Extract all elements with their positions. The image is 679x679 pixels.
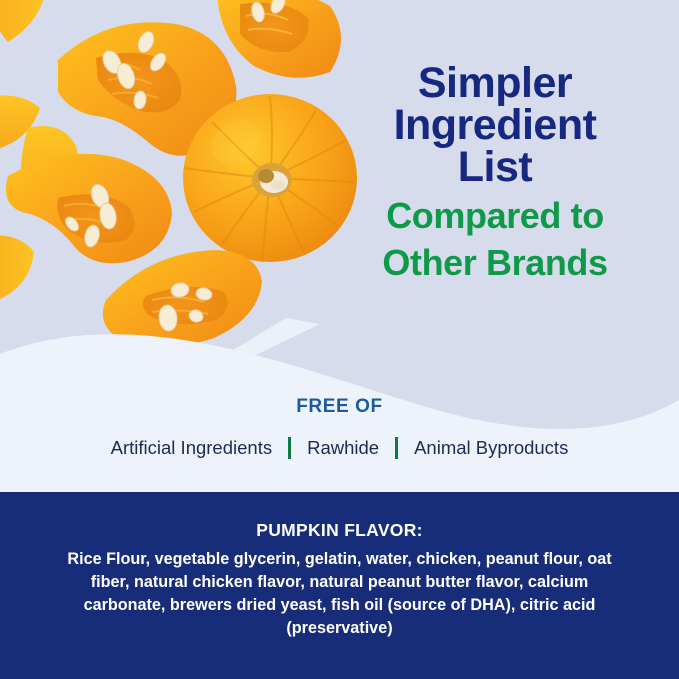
pumpkin-stem [252,163,292,197]
free-of-item-artificial-ingredients: Artificial Ingredients [95,437,288,459]
subheadline-line-1: Compared to [345,198,645,235]
ingredient-panel: PUMPKIN FLAVOR: Rice Flour, vegetable gl… [0,492,679,679]
free-of-item-animal-byproducts: Animal Byproducts [398,437,584,459]
whole-pumpkin [183,94,357,262]
free-of-item-rawhide: Rawhide [291,437,395,459]
headline-line-1: Simpler [345,62,645,104]
headline-line-2: Ingredient [345,104,645,146]
pumpkin-piece-bottom-left [0,235,34,300]
free-of-title: FREE OF [0,396,679,418]
pumpkin-piece-topleft [0,0,46,42]
free-of-section: FREE OF Artificial Ingredients Rawhide A… [0,396,679,459]
hero-section: Simpler Ingredient List Compared to Othe… [0,0,679,492]
infographic-page: Simpler Ingredient List Compared to Othe… [0,0,679,679]
headline-line-3: List [345,146,645,188]
free-of-items-row: Artificial Ingredients Rawhide Animal By… [0,437,679,459]
ingredient-panel-inner: PUMPKIN FLAVOR: Rice Flour, vegetable gl… [0,492,679,640]
flavor-label: PUMPKIN FLAVOR: [52,520,627,541]
ingredient-list: Rice Flour, vegetable glycerin, gelatin,… [52,548,627,640]
pumpkin-wedge-lower-left [6,154,172,264]
pumpkin-wedge-top-right [218,0,341,78]
subheadline-line-2: Other Brands [345,245,645,282]
headline-block: Simpler Ingredient List Compared to Othe… [345,62,645,282]
wave-divider [0,292,679,492]
